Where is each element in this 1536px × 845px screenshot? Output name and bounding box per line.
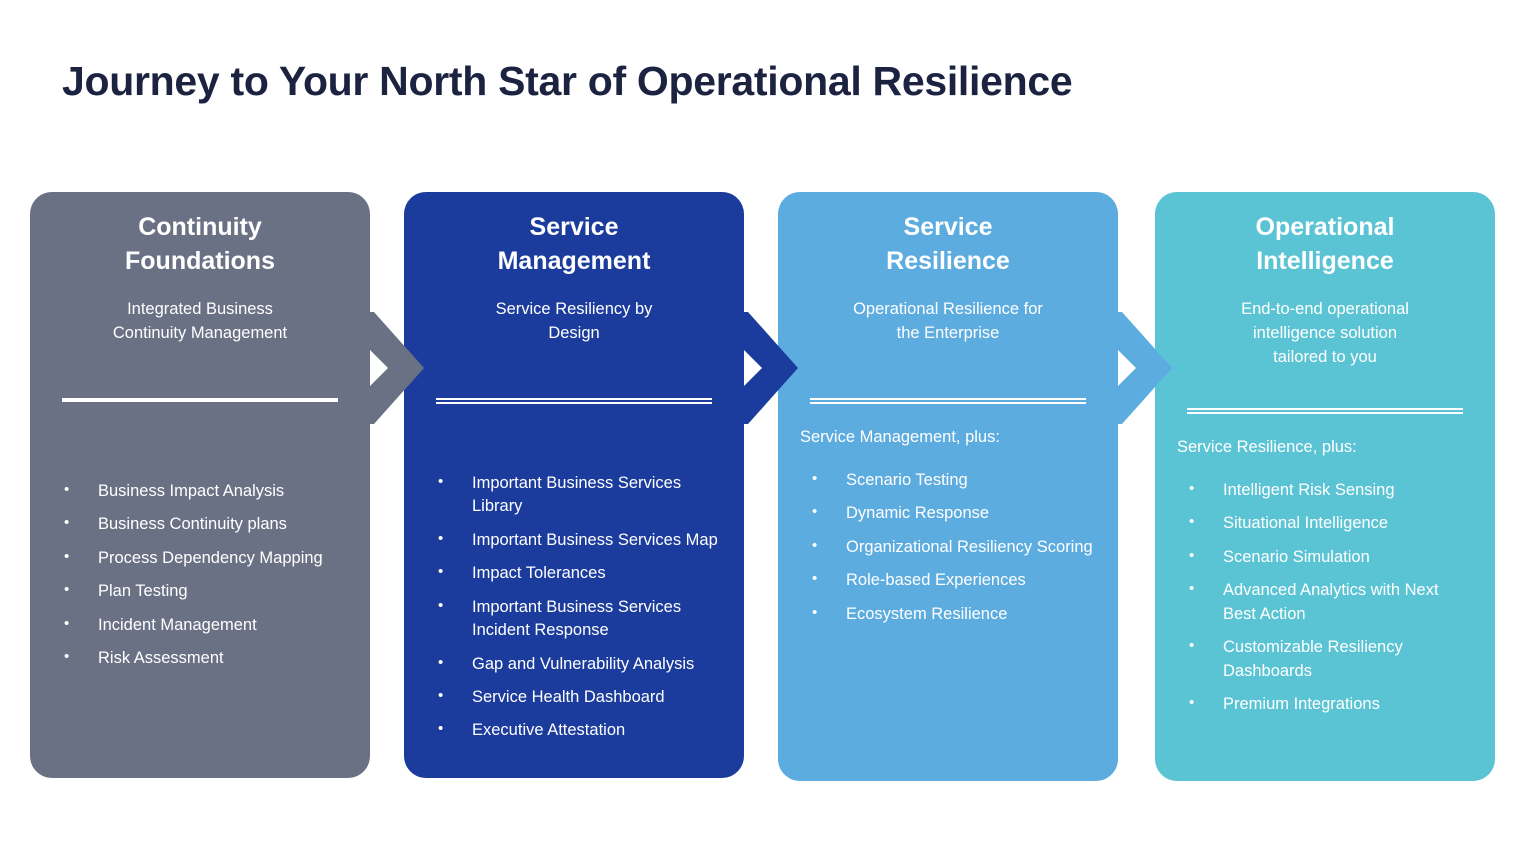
stage-card-continuity-foundations[interactable]: Continuity FoundationsIntegrated Busines…	[30, 192, 370, 778]
connector-arrow-2	[726, 312, 798, 424]
list-item: Scenario Testing	[812, 469, 1098, 492]
journey-diagram: Continuity FoundationsIntegrated Busines…	[0, 0, 1536, 845]
stage-card-operational-intelligence[interactable]: Operational IntelligenceEnd-to-end opera…	[1155, 192, 1495, 781]
stage-header-continuity-foundations: Continuity FoundationsIntegrated Busines…	[30, 192, 370, 346]
stage-title-continuity-foundations: Continuity Foundations	[30, 210, 370, 278]
stage-divider-operational-intelligence	[1187, 408, 1463, 410]
stage-body-continuity-foundations: Business Impact AnalysisBusiness Continu…	[30, 436, 370, 681]
list-item: Scenario Simulation	[1189, 546, 1475, 569]
stage-title-service-resilience: Service Resilience	[778, 210, 1118, 278]
connector-arrow-3	[1100, 312, 1172, 424]
list-item: Intelligent Risk Sensing	[1189, 479, 1475, 502]
stage-subtitle-service-resilience: Operational Resilience for the Enterpris…	[778, 298, 1118, 346]
stage-title-operational-intelligence: Operational Intelligence	[1155, 210, 1495, 278]
stage-card-service-management[interactable]: Service ManagementService Resiliency by …	[404, 192, 744, 778]
stage-divider-service-management	[436, 398, 712, 400]
list-item: Plan Testing	[64, 580, 350, 603]
stage-header-service-resilience: Service ResilienceOperational Resilience…	[778, 192, 1118, 346]
stage-bullet-list-service-management: Important Business Services LibraryImpor…	[404, 472, 744, 743]
stage-plus-label-operational-intelligence: Service Resilience, plus:	[1155, 438, 1495, 457]
divider-line	[1187, 408, 1463, 410]
list-item: Executive Attestation	[438, 719, 724, 742]
list-item: Organizational Resiliency Scoring	[812, 536, 1098, 559]
divider-line	[436, 398, 712, 400]
stage-subtitle-continuity-foundations: Integrated Business Continuity Managemen…	[30, 298, 370, 346]
stage-divider-continuity-foundations	[62, 398, 338, 402]
divider-line	[62, 398, 338, 402]
stage-body-operational-intelligence: Service Resilience, plus:Intelligent Ris…	[1155, 438, 1495, 726]
stage-subtitle-service-management: Service Resiliency by Design	[404, 298, 744, 346]
stage-bullet-list-service-resilience: Scenario TestingDynamic ResponseOrganiza…	[778, 469, 1118, 626]
list-item: Role-based Experiences	[812, 569, 1098, 592]
stage-bullet-list-operational-intelligence: Intelligent Risk SensingSituational Inte…	[1155, 479, 1495, 716]
list-item: Risk Assessment	[64, 647, 350, 670]
list-item: Ecosystem Resilience	[812, 603, 1098, 626]
list-item: Incident Management	[64, 614, 350, 637]
list-item: Business Impact Analysis	[64, 480, 350, 503]
list-item: Service Health Dashboard	[438, 686, 724, 709]
list-item: Premium Integrations	[1189, 693, 1475, 716]
connector-arrow-1	[352, 312, 424, 424]
stage-body-service-management: Important Business Services LibraryImpor…	[404, 428, 744, 753]
list-item: Situational Intelligence	[1189, 512, 1475, 535]
stage-header-operational-intelligence: Operational IntelligenceEnd-to-end opera…	[1155, 192, 1495, 370]
stage-title-service-management: Service Management	[404, 210, 744, 278]
spacer	[30, 436, 370, 480]
list-item: Important Business Services Library	[438, 472, 724, 519]
list-item: Customizable Resiliency Dashboards	[1189, 636, 1475, 683]
stage-card-service-resilience[interactable]: Service ResilienceOperational Resilience…	[778, 192, 1118, 781]
list-item: Important Business Services Incident Res…	[438, 596, 724, 643]
list-item: Advanced Analytics with Next Best Action	[1189, 579, 1475, 626]
divider-line	[810, 398, 1086, 400]
list-item: Process Dependency Mapping	[64, 547, 350, 570]
stage-header-service-management: Service ManagementService Resiliency by …	[404, 192, 744, 346]
list-item: Impact Tolerances	[438, 562, 724, 585]
list-item: Business Continuity plans	[64, 513, 350, 536]
stage-body-service-resilience: Service Management, plus:Scenario Testin…	[778, 428, 1118, 636]
stage-bullet-list-continuity-foundations: Business Impact AnalysisBusiness Continu…	[30, 480, 370, 671]
stage-subtitle-operational-intelligence: End-to-end operational intelligence solu…	[1155, 298, 1495, 370]
list-item: Important Business Services Map	[438, 529, 724, 552]
spacer	[404, 428, 744, 472]
list-item: Gap and Vulnerability Analysis	[438, 653, 724, 676]
list-item: Dynamic Response	[812, 502, 1098, 525]
stage-divider-service-resilience	[810, 398, 1086, 400]
stage-plus-label-service-resilience: Service Management, plus:	[778, 428, 1118, 447]
